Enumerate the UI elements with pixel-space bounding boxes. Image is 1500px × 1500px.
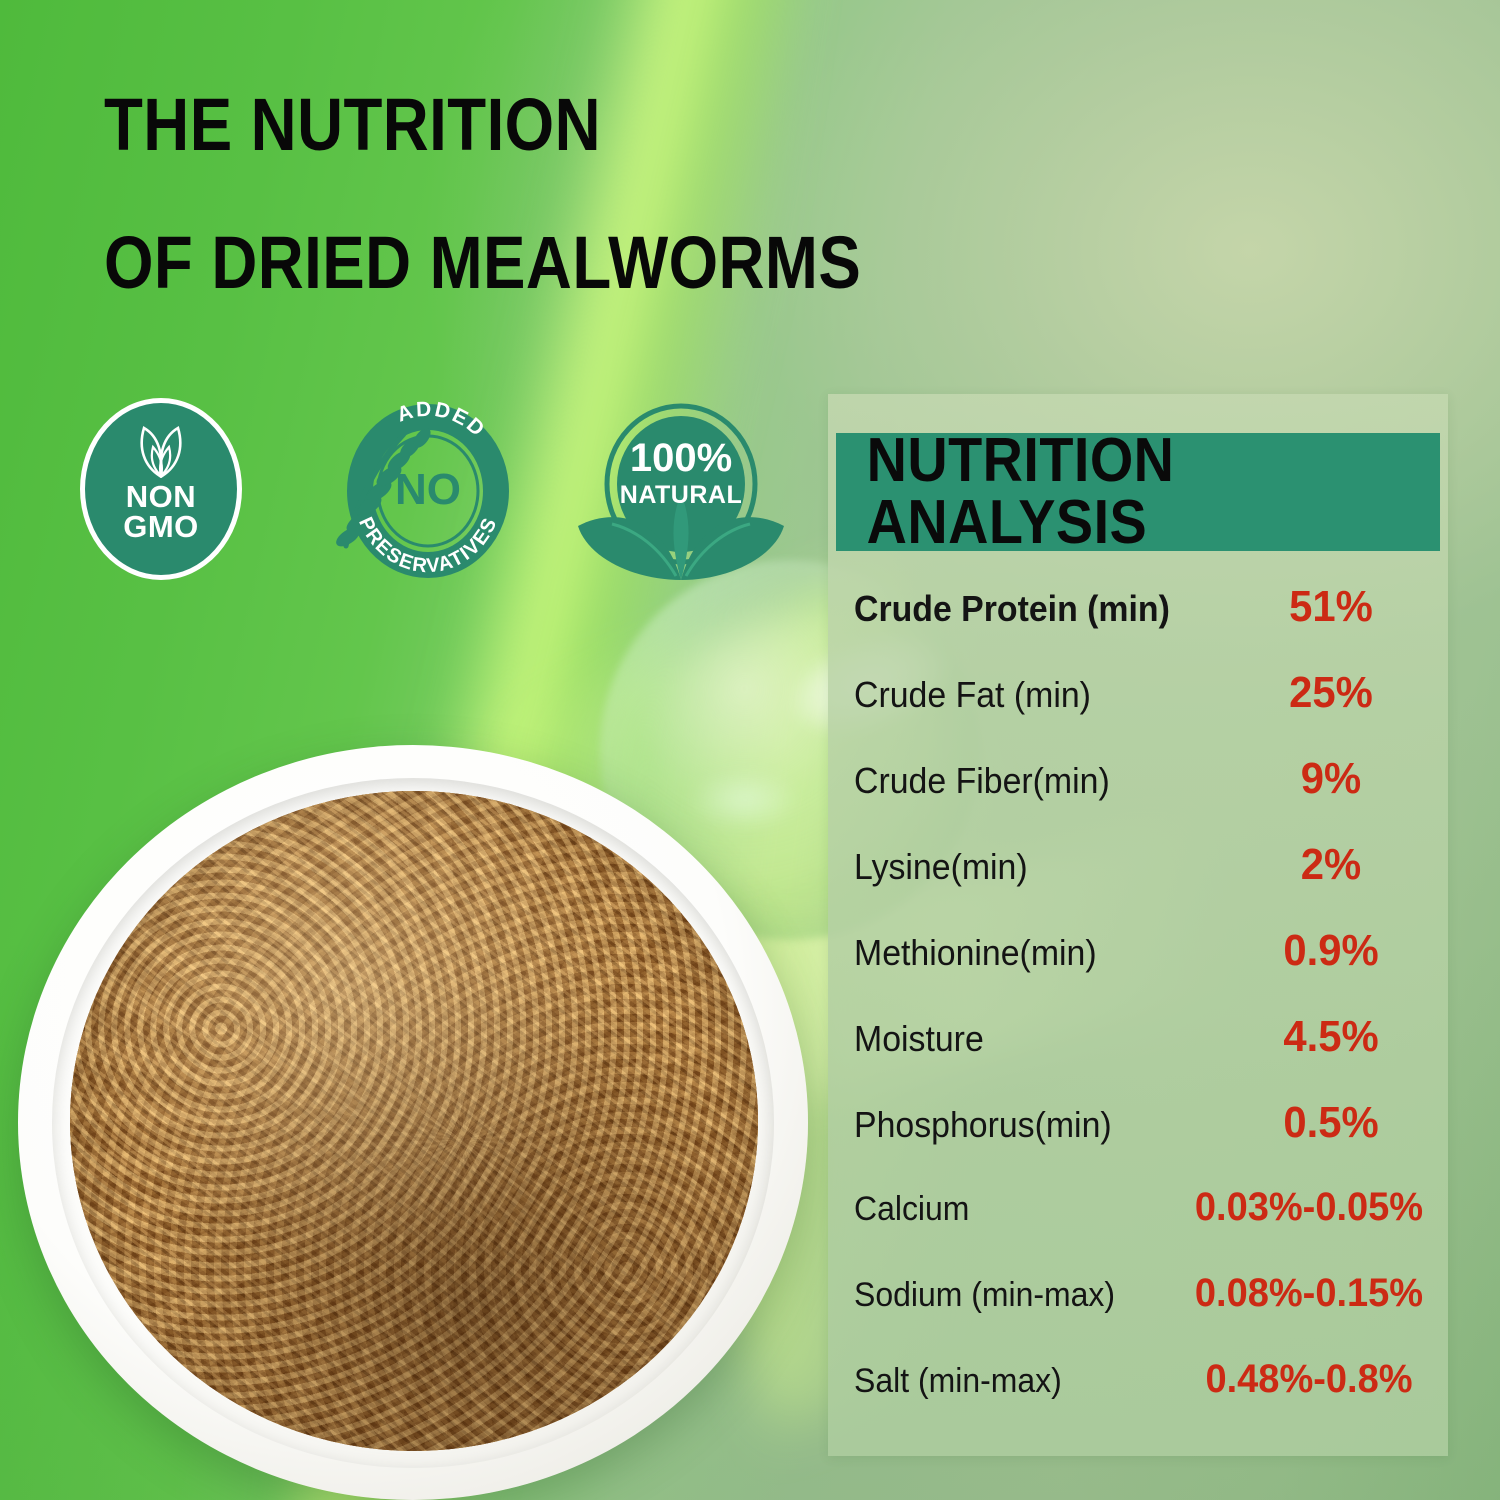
nutrition-analysis-panel: NUTRITION ANALYSIS Crude Protein (min)51… xyxy=(828,394,1448,1456)
badge-100-natural-line-2: NATURAL xyxy=(572,483,790,508)
badge-100-natural-label: 100% NATURAL xyxy=(572,438,790,508)
nutrition-value: 0.9% xyxy=(1233,929,1429,973)
nutrition-label: Crude Fat (min) xyxy=(854,677,1206,713)
nutrition-row: Phosphorus(min)0.5% xyxy=(828,1101,1448,1187)
mealworm-shading xyxy=(70,791,758,1451)
nutrition-value: 0.48%-0.8% xyxy=(1190,1359,1428,1399)
nutrition-rows: Crude Protein (min)51%Crude Fat (min)25%… xyxy=(828,551,1448,1445)
nutrition-label: Salt (min-max) xyxy=(854,1364,1164,1398)
nutrition-label: Crude Protein (min) xyxy=(854,591,1206,627)
nutrition-row: Methionine(min)0.9% xyxy=(828,929,1448,1015)
panel-header-bar: NUTRITION ANALYSIS xyxy=(836,433,1440,551)
badge-non-gmo-line-2: GMO xyxy=(80,512,242,542)
badge-preserv-center: NO xyxy=(395,465,461,514)
page-title-line-2: OF DRIED MEALWORMS xyxy=(104,226,878,300)
bowl-of-dried-mealworms xyxy=(18,745,818,1500)
badge-100-natural-line-1: 100% xyxy=(572,438,790,478)
badge-no-added-preservatives: ADDED PRESERVATIVES NO xyxy=(328,396,528,582)
badge-non-gmo-line-1: NON xyxy=(80,482,242,512)
page-title: THE NUTRITION OF DRIED MEALWORMS xyxy=(104,88,1004,300)
nutrition-value: 0.5% xyxy=(1233,1101,1429,1145)
badge-preserv-arc-top: ADDED xyxy=(394,398,490,443)
nutrition-label: Calcium xyxy=(854,1192,1164,1226)
nutrition-value: 51% xyxy=(1233,585,1429,629)
nutrition-label: Crude Fiber(min) xyxy=(854,763,1206,799)
nutrition-value: 0.08%-0.15% xyxy=(1190,1273,1428,1313)
badge-no-added-preservatives-graphic: ADDED PRESERVATIVES NO xyxy=(328,396,528,582)
page-title-line-1: THE NUTRITION xyxy=(104,88,878,162)
nutrition-value: 0.03%-0.05% xyxy=(1190,1187,1428,1227)
nutrition-label: Moisture xyxy=(854,1021,1206,1057)
nutrition-row: Crude Fiber(min)9% xyxy=(828,757,1448,843)
nutrition-label: Lysine(min) xyxy=(854,849,1206,885)
nutrition-value: 2% xyxy=(1233,843,1429,887)
nutrition-label: Phosphorus(min) xyxy=(854,1107,1206,1143)
nutrition-row: Salt (min-max)0.48%-0.8% xyxy=(828,1359,1448,1445)
badge-100-natural: 100% NATURAL xyxy=(572,398,790,582)
two-leaves-icon xyxy=(122,420,200,478)
panel-title: NUTRITION ANALYSIS xyxy=(836,430,1380,554)
badge-non-gmo-label: NON GMO xyxy=(80,482,242,542)
nutrition-label: Methionine(min) xyxy=(854,935,1206,971)
nutrition-row: Moisture4.5% xyxy=(828,1015,1448,1101)
dried-mealworms xyxy=(70,791,758,1451)
svg-text:ADDED: ADDED xyxy=(394,398,490,443)
nutrition-value: 9% xyxy=(1233,757,1429,801)
nutrition-row: Calcium0.03%-0.05% xyxy=(828,1187,1448,1273)
nutrition-row: Crude Protein (min)51% xyxy=(828,585,1448,671)
nutrition-label: Sodium (min-max) xyxy=(854,1278,1164,1312)
nutrition-row: Crude Fat (min)25% xyxy=(828,671,1448,757)
nutrition-value: 25% xyxy=(1233,671,1429,715)
nutrition-row: Sodium (min-max)0.08%-0.15% xyxy=(828,1273,1448,1359)
badge-non-gmo: NON GMO xyxy=(80,398,242,580)
product-infographic: THE NUTRITION OF DRIED MEALWORMS NON GMO xyxy=(0,0,1500,1500)
nutrition-row: Lysine(min)2% xyxy=(828,843,1448,929)
nutrition-value: 4.5% xyxy=(1233,1015,1429,1059)
